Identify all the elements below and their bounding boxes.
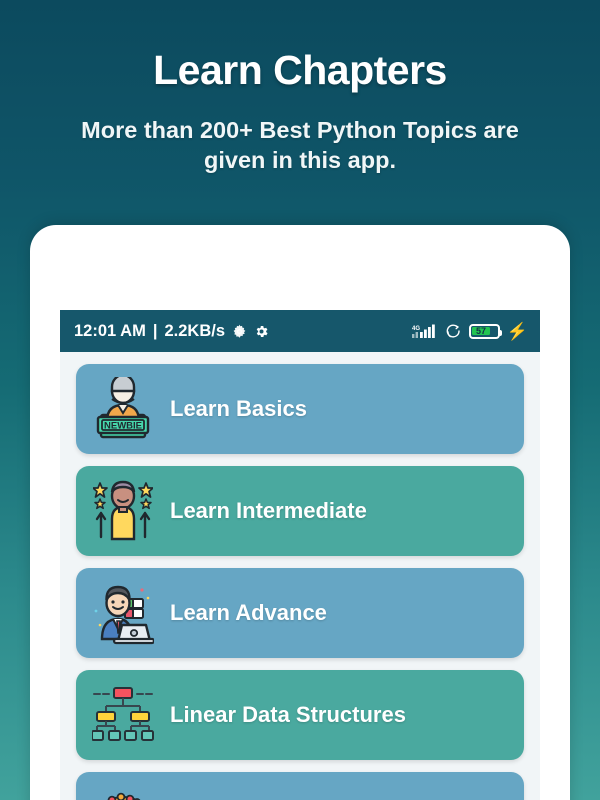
chapter-card-learn-basics[interactable]: NEWBIE Learn Basics — [76, 364, 524, 454]
status-network-speed: 2.2KB/s — [164, 322, 225, 341]
status-time: 12:01 AM — [74, 322, 146, 341]
chapter-card-partial[interactable] — [76, 772, 524, 800]
phone-mockup: 12:01 AM | 2.2KB/s 4G — [30, 225, 570, 800]
status-bar: 12:01 AM | 2.2KB/s 4G — [60, 310, 540, 352]
promo-subtitle: More than 200+ Best Python Topics are gi… — [65, 115, 535, 175]
chapter-card-linear-data-structures[interactable]: Linear Data Structures — [76, 670, 524, 760]
status-separator: | — [153, 322, 158, 341]
chapter-label: Learn Intermediate — [170, 498, 367, 524]
signal-bars-icon: 4G — [412, 324, 438, 339]
promo-header: Learn Chapters More than 200+ Best Pytho… — [0, 0, 600, 175]
chapter-label: Learn Advance — [170, 600, 327, 626]
status-bar-left: 12:01 AM | 2.2KB/s — [74, 322, 269, 341]
battery-percent-label: 57 — [476, 327, 486, 336]
chapter-card-learn-advance[interactable]: Learn Advance — [76, 568, 524, 658]
chapter-label: Linear Data Structures — [170, 702, 406, 728]
star-arrows-person-icon — [90, 476, 156, 546]
battery-fill: 57 — [472, 327, 489, 335]
status-bar-right: 4G 57 ⚡ — [412, 323, 528, 340]
tree-hierarchy-icon — [90, 680, 156, 750]
newbie-person-icon: NEWBIE — [90, 374, 156, 444]
chapter-label: Learn Basics — [170, 396, 307, 422]
gear-icon — [254, 324, 269, 339]
chapter-card-learn-intermediate[interactable]: Learn Intermediate — [76, 466, 524, 556]
battery-icon: 57 — [469, 324, 500, 339]
app-store-promo-screenshot: Learn Chapters More than 200+ Best Pytho… — [0, 0, 600, 800]
rotation-lock-icon — [445, 324, 462, 339]
charging-bolt-icon: ⚡ — [507, 323, 528, 340]
svg-text:NEWBIE: NEWBIE — [104, 421, 142, 432]
page-title: Learn Chapters — [0, 48, 600, 93]
chapter-list: NEWBIE Learn Basics — [60, 352, 540, 800]
pot-basket-icon — [90, 782, 156, 800]
laptop-person-icon — [90, 578, 156, 648]
network-type-label: 4G — [412, 326, 420, 332]
gear-icon — [232, 324, 247, 339]
